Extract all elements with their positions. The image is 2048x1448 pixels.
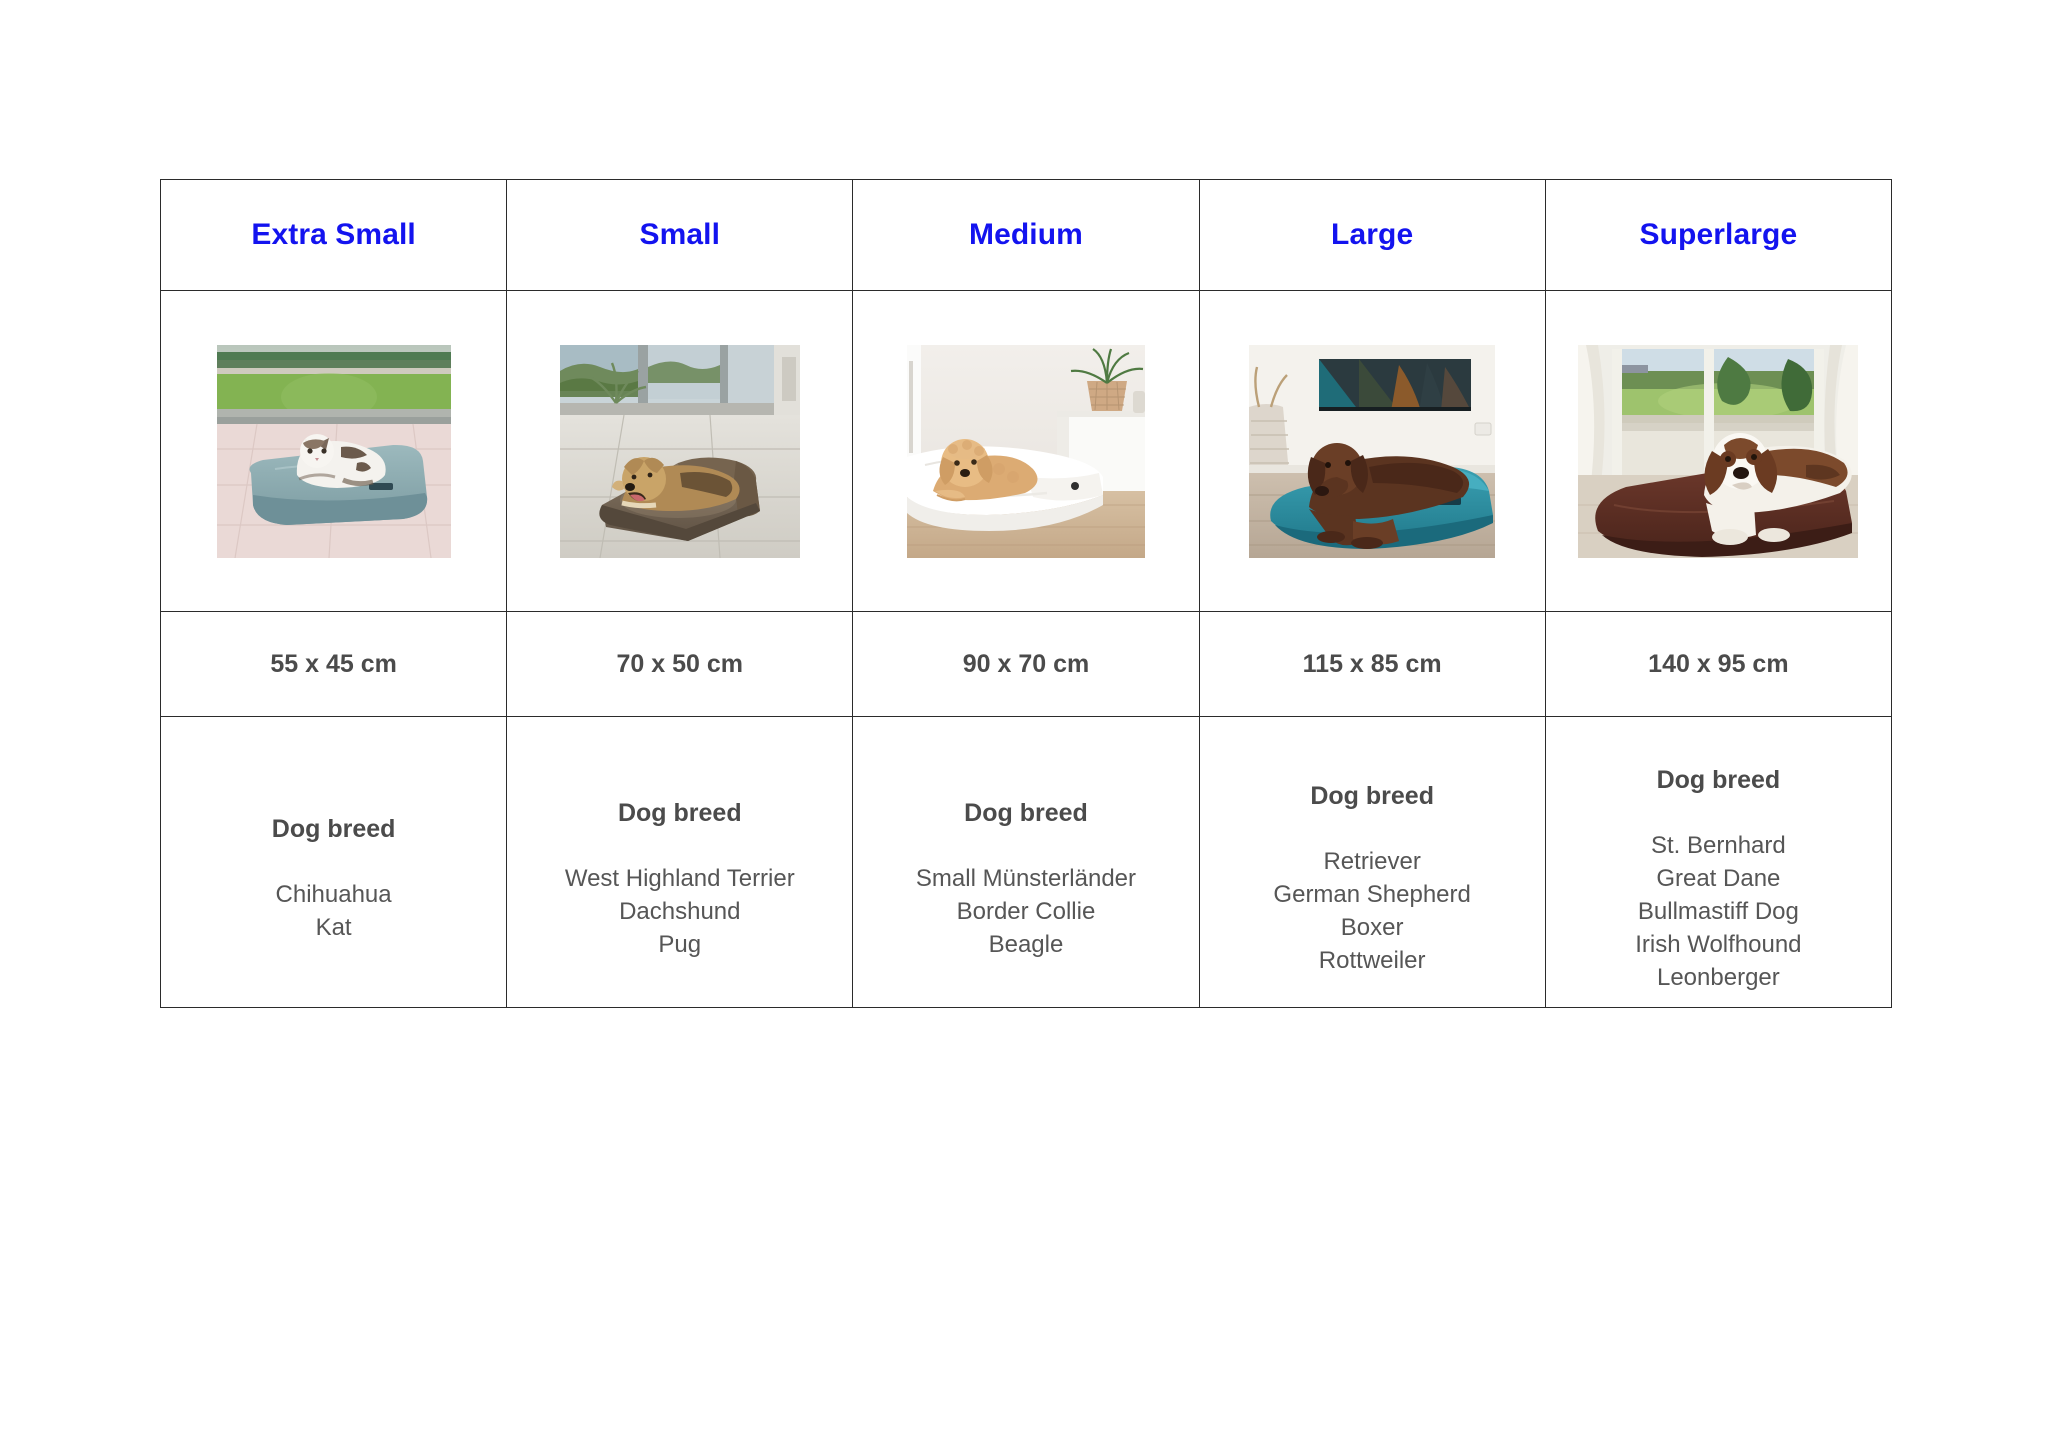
photo-medium-doodle-on-bed (907, 345, 1145, 558)
dimension-cell-superlarge: 140 x 95 cm (1545, 612, 1891, 717)
table-dimension-row: 55 x 45 cm 70 x 50 cm 90 x 70 cm 115 x 8… (161, 612, 1892, 717)
column-header-label: Medium (853, 220, 1198, 250)
table-breed-row: Dog breed ChihuahuaKat Dog breed West Hi… (161, 717, 1892, 1008)
breed-cell-small: Dog breed West Highland TerrierDachshund… (507, 717, 853, 1008)
breed-title: Dog breed (853, 798, 1198, 828)
breed-list-item: Rottweiler (1200, 944, 1545, 977)
column-header-label: Large (1200, 220, 1545, 250)
breed-title: Dog breed (161, 814, 506, 844)
breed-list-item: Leonberger (1546, 961, 1891, 994)
breed-list-item: West Highland Terrier (507, 862, 852, 895)
breed-cell-extra-small: Dog breed ChihuahuaKat (161, 717, 507, 1008)
breed-list: St. BernhardGreat DaneBullmastiff DogIri… (1546, 829, 1891, 994)
column-header-label: Superlarge (1546, 220, 1891, 250)
breed-title: Dog breed (1200, 781, 1545, 811)
breed-title: Dog breed (507, 798, 852, 828)
dimension-cell-large: 115 x 85 cm (1199, 612, 1545, 717)
photo-cell-small (507, 291, 853, 612)
column-header-label: Small (507, 220, 852, 250)
photo-cell-large (1199, 291, 1545, 612)
breed-list-item: Chihuahua (161, 878, 506, 911)
breed-cell-superlarge: Dog breed St. BernhardGreat DaneBullmast… (1545, 717, 1891, 1008)
dimension-label: 55 x 45 cm (161, 652, 506, 677)
breed-cell-medium: Dog breed Small MünsterländerBorder Coll… (853, 717, 1199, 1008)
breed-list-item: Bullmastiff Dog (1546, 895, 1891, 928)
dimension-label: 140 x 95 cm (1546, 652, 1891, 677)
breed-list-item: Retriever (1200, 845, 1545, 878)
breed-list: ChihuahuaKat (161, 878, 506, 944)
dimension-label: 115 x 85 cm (1200, 652, 1545, 677)
table-header-row: Extra Small Small Medium Large Superlarg… (161, 180, 1892, 291)
breed-list-item: Dachshund (507, 895, 852, 928)
breed-list-item: German Shepherd (1200, 878, 1545, 911)
header-cell-extra-small: Extra Small (161, 180, 507, 291)
dog-bed-size-table: Extra Small Small Medium Large Superlarg… (160, 179, 1892, 1008)
photo-cell-medium (853, 291, 1199, 612)
breed-list-item: Irish Wolfhound (1546, 928, 1891, 961)
breed-list-item: Pug (507, 928, 852, 961)
dimension-cell-small: 70 x 50 cm (507, 612, 853, 717)
photo-cell-extra-small (161, 291, 507, 612)
breed-list: Small MünsterländerBorder CollieBeagle (853, 862, 1198, 961)
photo-small-terrier-on-bed (560, 345, 800, 558)
column-header-label: Extra Small (161, 220, 506, 250)
photo-large-labrador-on-bed (1249, 345, 1495, 558)
breed-list-item: Beagle (853, 928, 1198, 961)
breed-list-item: Boxer (1200, 911, 1545, 944)
table-photo-row (161, 291, 1892, 612)
breed-title: Dog breed (1546, 765, 1891, 795)
breed-list: West Highland TerrierDachshundPug (507, 862, 852, 961)
breed-list-item: St. Bernhard (1546, 829, 1891, 862)
header-cell-medium: Medium (853, 180, 1199, 291)
header-cell-small: Small (507, 180, 853, 291)
photo-extra-small-cat-on-bed (217, 345, 451, 558)
breed-list-item: Great Dane (1546, 862, 1891, 895)
breed-cell-large: Dog breed RetrieverGerman ShepherdBoxerR… (1199, 717, 1545, 1008)
photo-superlarge-stbernard-on-bed (1578, 345, 1858, 558)
breed-list: RetrieverGerman ShepherdBoxerRottweiler (1200, 845, 1545, 977)
header-cell-superlarge: Superlarge (1545, 180, 1891, 291)
dimension-label: 70 x 50 cm (507, 652, 852, 677)
dimension-label: 90 x 70 cm (853, 652, 1198, 677)
breed-list-item: Small Münsterländer (853, 862, 1198, 895)
breed-list-item: Border Collie (853, 895, 1198, 928)
dimension-cell-medium: 90 x 70 cm (853, 612, 1199, 717)
header-cell-large: Large (1199, 180, 1545, 291)
dimension-cell-extra-small: 55 x 45 cm (161, 612, 507, 717)
size-chart-page: Extra Small Small Medium Large Superlarg… (0, 0, 2048, 1448)
photo-cell-superlarge (1545, 291, 1891, 612)
breed-list-item: Kat (161, 911, 506, 944)
